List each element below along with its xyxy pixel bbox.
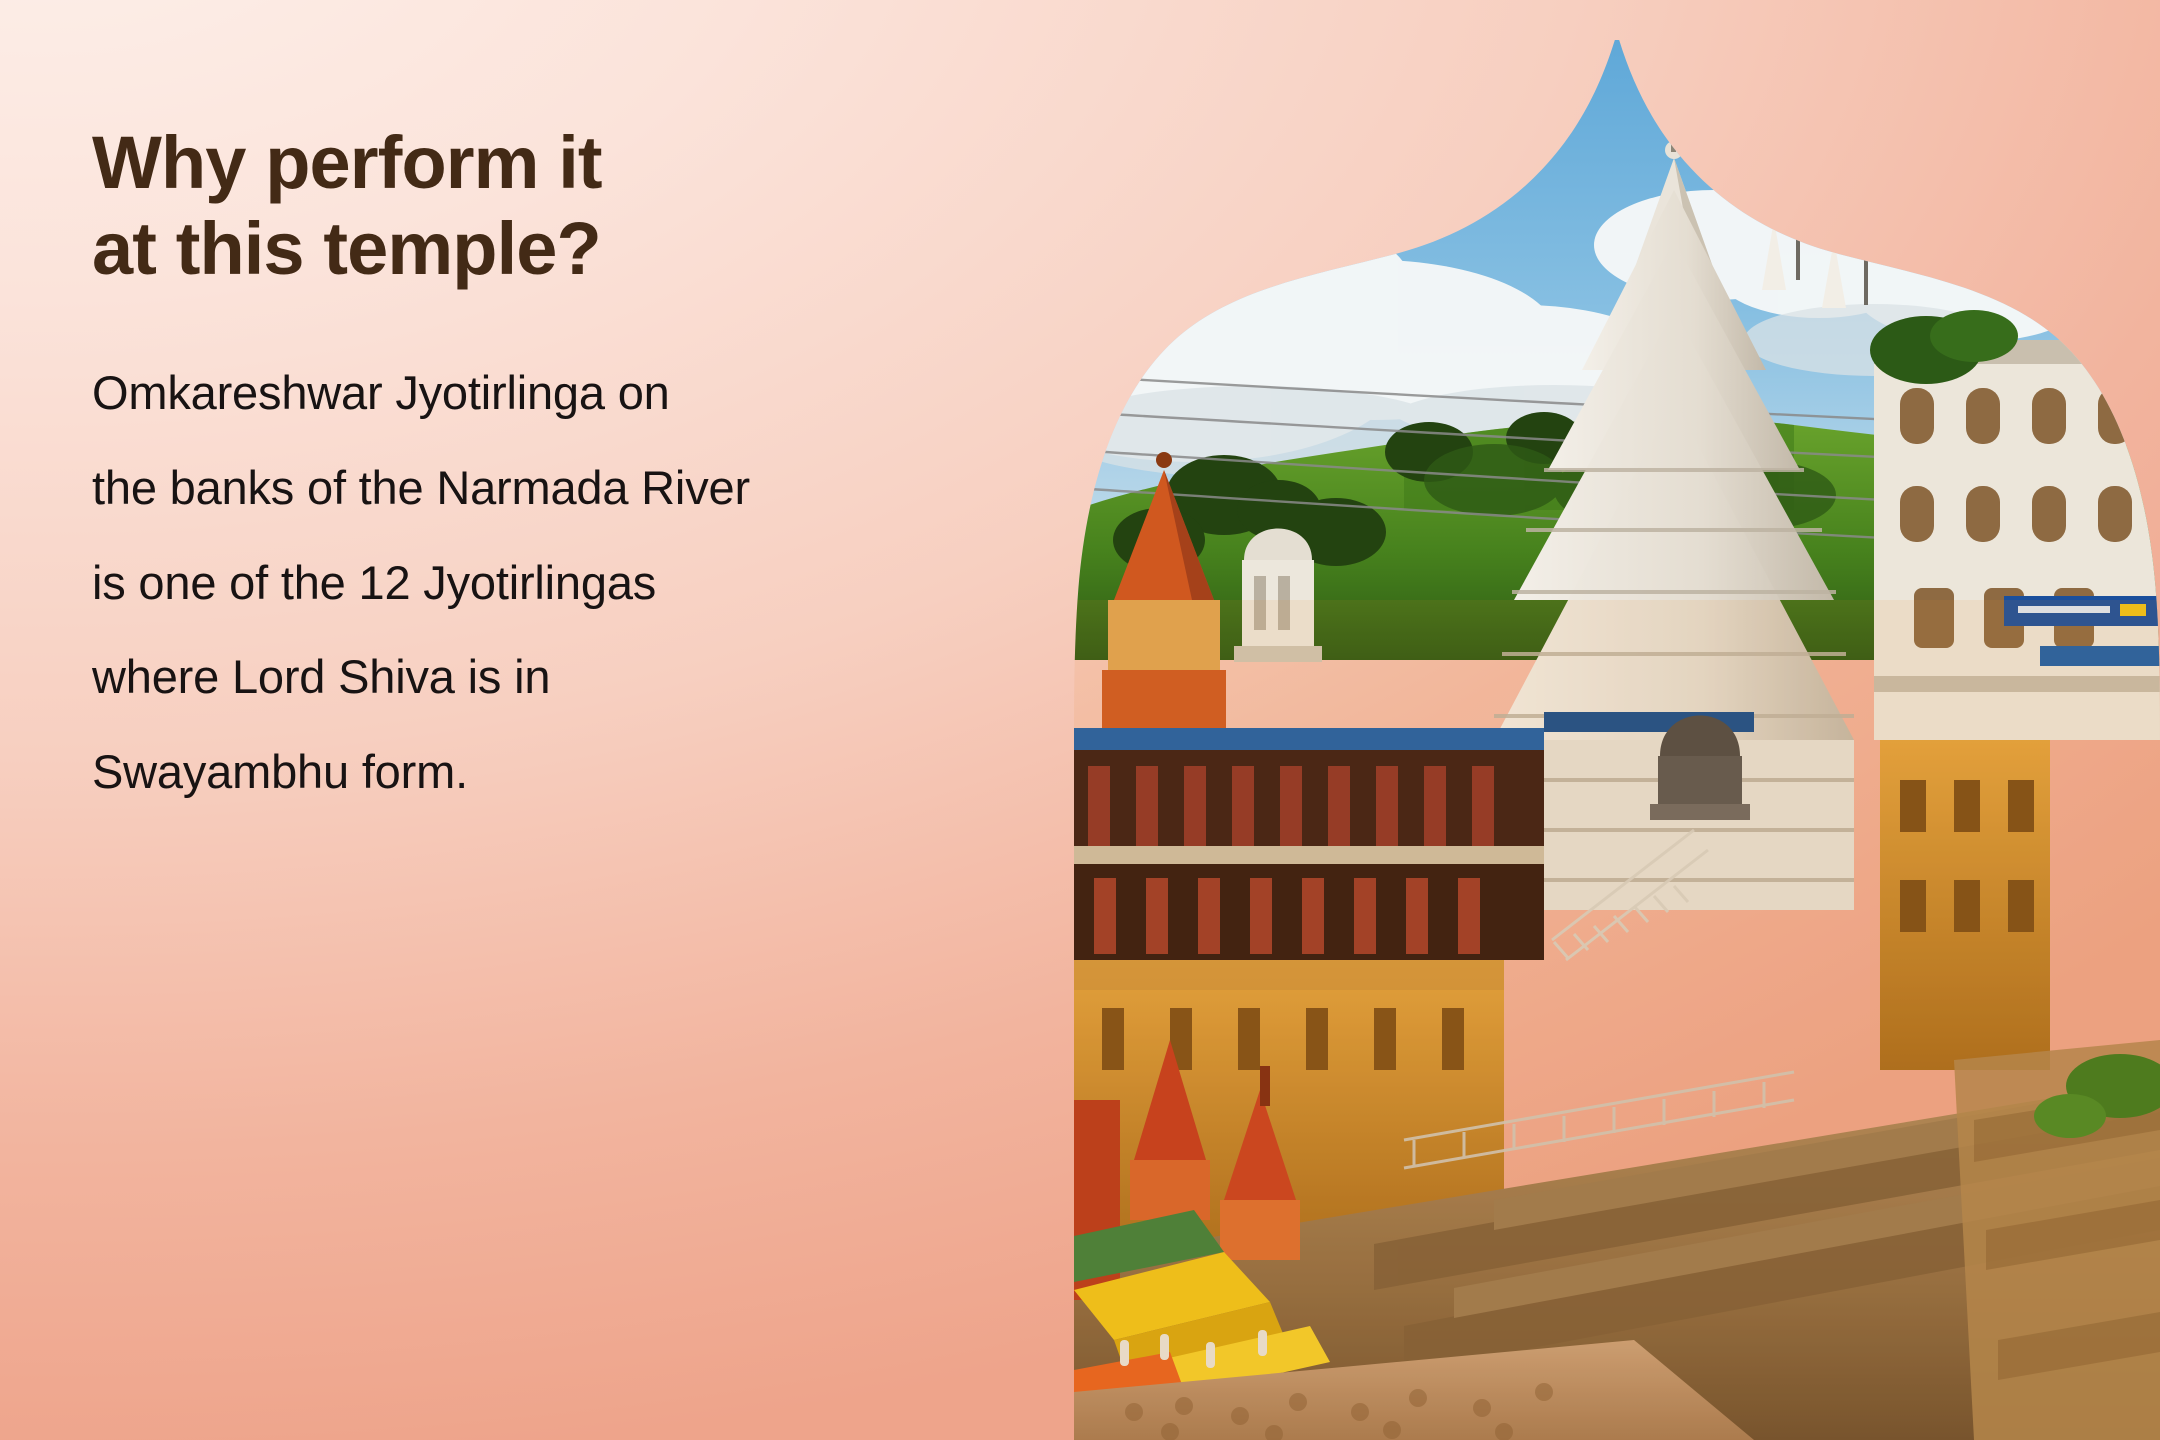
page-title: Why perform it at this temple?: [92, 120, 1022, 292]
body-paragraph: Omkareshwar Jyotirlinga on the banks of …: [92, 346, 1022, 821]
temple-photo-panel: [1074, 40, 2160, 1440]
omkareshwar-temple-photo: [1074, 40, 2160, 1440]
text-column: Why perform it at this temple? Omkareshw…: [92, 120, 1022, 820]
temple-scene-illustration: [1074, 40, 2160, 1440]
slide-canvas: Why perform it at this temple? Omkareshw…: [0, 0, 2160, 1440]
